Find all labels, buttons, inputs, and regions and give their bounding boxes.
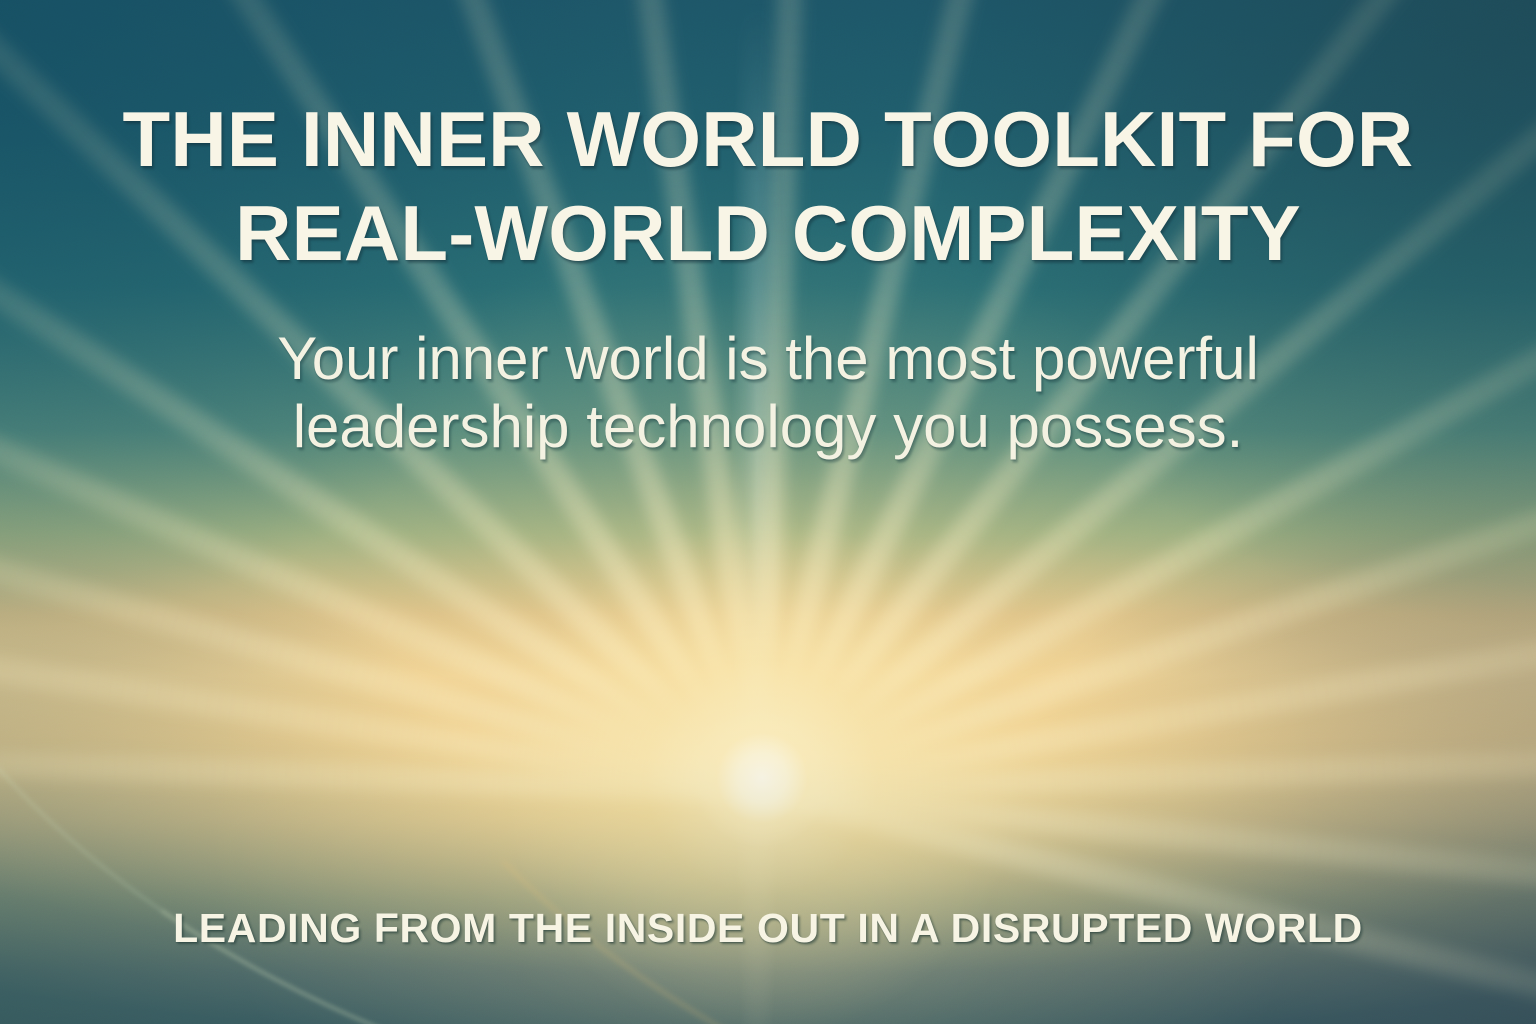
subtitle-line-2: leadership technology you possess. — [277, 393, 1259, 461]
slide-text-stack: THE INNER WORLD TOOLKIT FOR REAL-WORLD C… — [0, 0, 1536, 1024]
subtitle: Your inner world is the most powerful le… — [277, 325, 1259, 462]
subtitle-line-1: Your inner world is the most powerful — [277, 325, 1259, 393]
headline-line-1: THE INNER WORLD TOOLKIT FOR — [123, 100, 1414, 180]
slide-canvas: THE INNER WORLD TOOLKIT FOR REAL-WORLD C… — [0, 0, 1536, 1024]
footer-tagline: LEADING FROM THE INSIDE OUT IN A DISRUPT… — [0, 905, 1536, 952]
headline-line-2: REAL-WORLD COMPLEXITY — [235, 194, 1301, 274]
